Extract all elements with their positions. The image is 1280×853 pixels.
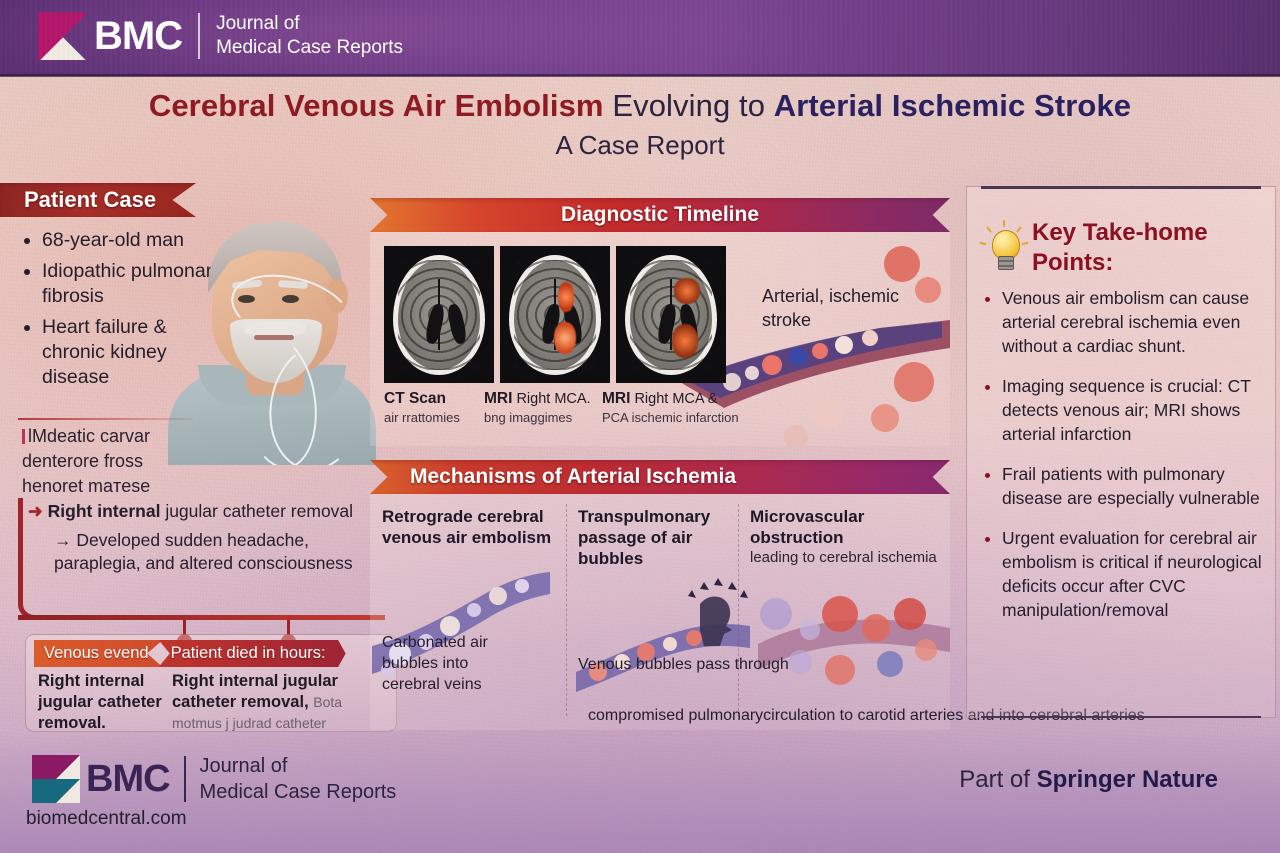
patient-case-note-text: lMdeatic carvar denterore fross henoret … — [22, 426, 150, 496]
title-subtitle: A Case Report — [0, 128, 1280, 162]
outcome-tab-patient-died[interactable]: Patient died in hours: — [159, 640, 346, 667]
mechanism-body-1: Venous bubbles pass through — [578, 654, 950, 675]
header-rule — [0, 74, 1280, 77]
bmc-logo-icon — [32, 755, 80, 803]
title-part-2: Evolving to — [604, 88, 774, 123]
mechanisms-panel: Retrograde cerebral venous air embolism … — [370, 494, 950, 730]
mechanism-heading-0: Retrograde cerebral venous air embolism — [382, 506, 562, 548]
footer-url[interactable]: biomedcentral.com — [26, 808, 187, 830]
patient-case-steps: ➜Right internal jugular catheter removal… — [28, 500, 376, 575]
diagnostic-timeline-ribbon-label: Diagnostic Timeline — [561, 203, 759, 227]
header-journal-line2: Medical Case Reports — [216, 36, 403, 60]
scan-labels: CT Scan air rrattomies MRI Right MCA. bn… — [384, 390, 940, 425]
brain-scan-row — [384, 246, 726, 383]
springer-prefix: Part of — [959, 766, 1036, 793]
scan-label-0: CT Scan air rrattomies — [384, 390, 484, 425]
step1-bold: Right internal — [48, 501, 161, 521]
list-item: Urgent evaluation for cerebral air embol… — [1002, 526, 1272, 622]
mechanism-heading-1: Transpulmonary passage of air bubbles — [578, 506, 730, 569]
title-part-1: Cerebral Venous Air Embolism — [149, 88, 604, 123]
arrow-right-icon: ➜ — [28, 501, 43, 521]
mechanisms-ribbon-label: Mechanisms of Arterial Ischemia — [410, 465, 736, 489]
mechanism-column-2: Microvascular obstruction leading to cer… — [750, 506, 946, 568]
scan-subtitle-1: bng imaggimes — [484, 410, 602, 425]
ct-scan-image — [384, 246, 494, 383]
scan-title-rest-1: Right MCA. — [512, 391, 590, 407]
header-journal-line1: Journal of — [216, 12, 403, 36]
header-bar: BMC Journal of Medical Case Reports — [0, 0, 1280, 76]
mri-scan-image-2 — [616, 246, 726, 383]
lightbulb-icon — [986, 226, 1022, 272]
footer-journal-line2: Medical Case Reports — [200, 779, 397, 805]
patient-case-ribbon: Patient Case — [0, 183, 196, 217]
springer-nature-credit: Part of Springer Nature — [959, 766, 1218, 794]
step1-rest: jugular catheter removal — [160, 501, 353, 521]
patient-case-note: lMdeatic carvar denterore fross henoret … — [22, 424, 202, 499]
scan-title-2: MRI — [602, 390, 630, 407]
mechanisms-ribbon: Mechanisms of Arterial Ischemia — [370, 460, 950, 494]
list-item: Venous air embolism can cause arterial c… — [1002, 286, 1272, 358]
footer-brand: BMC — [86, 760, 170, 798]
divider — [738, 504, 739, 716]
mechanism-column-0: Retrograde cerebral venous air embolism — [382, 506, 562, 548]
title-part-3: Arterial Ischemic Stroke — [774, 88, 1131, 123]
step2-text: Developed sudden headache, paraplegia, a… — [54, 530, 353, 573]
footer-divider — [184, 756, 186, 802]
mechanism-body-0: Carbonated air bubbles into cerebral vei… — [382, 632, 512, 695]
diagnostic-timeline-ribbon: Diagnostic Timeline — [370, 198, 950, 232]
bmc-logo-icon — [38, 12, 86, 60]
scan-subtitle-0: air rrattomies — [384, 410, 484, 425]
outcome-card: Venous evend Patient died in hours: Righ… — [25, 634, 397, 732]
scan-label-1: MRI Right MCA. bng imaggimes — [484, 390, 602, 425]
header-divider — [198, 13, 200, 59]
arrow-long-right-icon: → — [54, 530, 72, 550]
scan-subtitle-2: PCA ischemic infarction — [602, 410, 792, 425]
infographic-poster: BMC Journal of Medical Case Reports Cere… — [0, 0, 1280, 853]
list-item: Frail patients with pulmonary disease ar… — [1002, 462, 1272, 510]
footer-journal-name: Journal of Medical Case Reports — [200, 753, 397, 805]
outcome-tab-venous-event[interactable]: Venous evend — [34, 640, 163, 667]
diagnostic-timeline-panel: CT Scan air rrattomies MRI Right MCA. bn… — [370, 232, 950, 446]
page-title: Cerebral Venous Air Embolism Evolving to… — [0, 86, 1280, 162]
scan-label-2: MRI Right MCA & PCA ischemic infarction — [602, 390, 792, 425]
arterial-stroke-note: Arterial, ischemic stroke — [762, 284, 932, 332]
mechanism-column-1: Transpulmonary passage of air bubbles — [578, 506, 730, 569]
divider — [566, 504, 567, 716]
scan-title-1: MRI — [484, 390, 512, 407]
header-brand: BMC — [94, 16, 182, 56]
footer-logo: BMC Journal of Medical Case Reports — [32, 753, 396, 805]
footer-journal-line1: Journal of — [200, 753, 397, 779]
header-journal-name: Journal of Medical Case Reports — [216, 12, 403, 61]
outcome-column-1: Right internal jugular catheter removal. — [38, 671, 166, 734]
list-item: Imaging sequence is crucial: CT detects … — [1002, 374, 1272, 446]
mechanism-heading-2: Microvascular obstruction — [750, 506, 946, 548]
divider — [18, 418, 193, 420]
key-points-title: Key Take-home Points: — [1032, 218, 1262, 278]
key-points-list: Venous air embolism can cause arterial c… — [984, 286, 1272, 638]
mechanism-subheading-2: leading to cerebral ischemia — [750, 548, 946, 568]
scan-title-0: CT Scan — [384, 390, 446, 407]
scan-title-rest-2: Right MCA & — [630, 391, 717, 407]
patient-case-ribbon-label: Patient Case — [24, 187, 156, 213]
springer-bold: Springer Nature — [1037, 766, 1218, 793]
mri-scan-image-1 — [500, 246, 610, 383]
